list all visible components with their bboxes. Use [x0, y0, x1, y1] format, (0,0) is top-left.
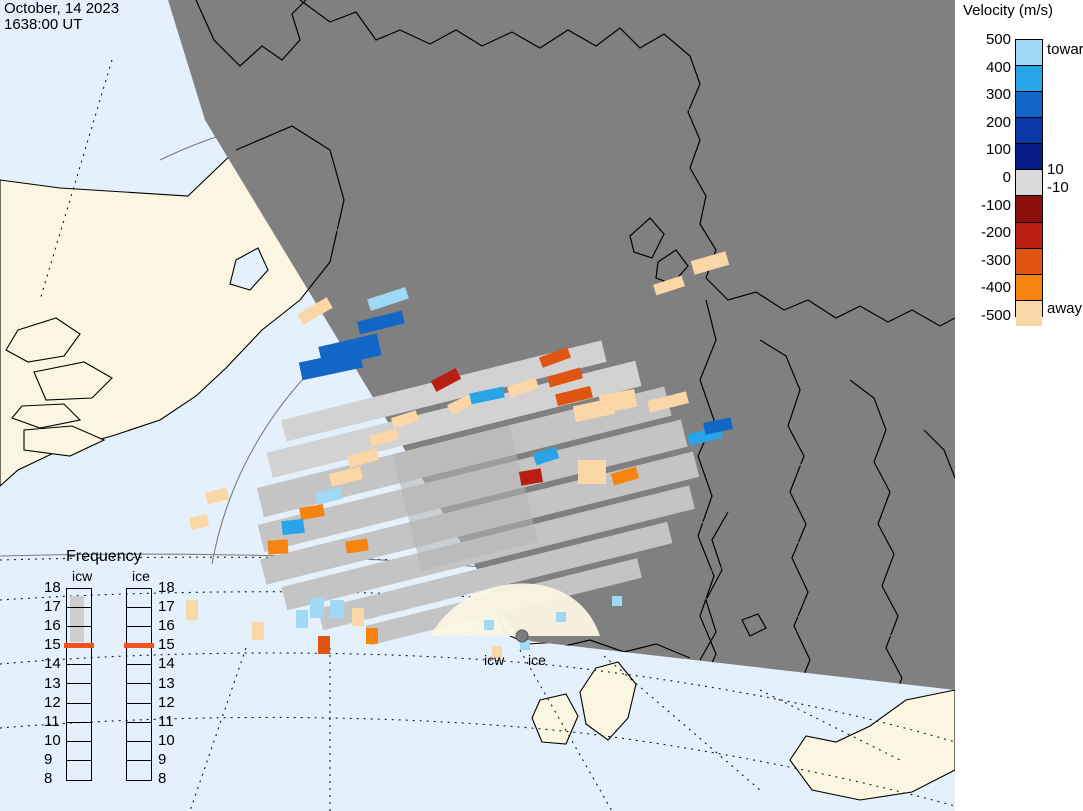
- frequency-segment: [127, 665, 151, 684]
- frequency-tick-left-18: 18: [44, 579, 61, 596]
- frequency-segment: [127, 608, 151, 627]
- colorbar-cell-zero: [1016, 169, 1042, 196]
- frequency-tick-left-9: 9: [44, 751, 52, 768]
- frequency-tick-right-12: 12: [158, 694, 175, 711]
- frequency-bar-icw[interactable]: [66, 588, 92, 781]
- frequency-legend: Frequency icw ice 18171615141312111098 1…: [58, 548, 188, 804]
- frequency-tick-right-16: 16: [158, 617, 175, 634]
- frequency-tick-right-10: 10: [158, 732, 175, 749]
- frequency-segment: [67, 589, 91, 608]
- frequency-segment: [67, 646, 91, 665]
- colorbar-toward-label: toward: [1047, 41, 1083, 58]
- colorbar-tick-0: 0: [1003, 169, 1011, 186]
- frequency-segment: [127, 646, 151, 665]
- frequency-marker-ice: [124, 643, 154, 648]
- colorbar-cell-toward-1: [1016, 66, 1042, 92]
- frequency-segment: [127, 704, 151, 723]
- colorbar-inner-tick-negative: -10: [1047, 179, 1069, 196]
- velocity-cell: [252, 622, 264, 640]
- colorbar-gradient[interactable]: [1015, 39, 1043, 317]
- frequency-tick-left-15: 15: [44, 636, 61, 653]
- frequency-segment: [67, 684, 91, 703]
- colorbar-tick-neg200: -200: [981, 224, 1011, 241]
- colorbar-cell-toward-4: [1016, 144, 1042, 169]
- frequency-segment: [67, 704, 91, 723]
- title-date: October, 14 2023: [4, 0, 119, 17]
- radar-site-marker: [516, 630, 528, 642]
- frequency-tick-right-9: 9: [158, 751, 166, 768]
- frequency-tick-right-8: 8: [158, 770, 166, 787]
- frequency-tick-right-18: 18: [158, 579, 175, 596]
- radar-map[interactable]: icw ice Frequency icw ice 18171615141312…: [0, 0, 955, 811]
- colorbar-inner-tick-positive: 10: [1047, 161, 1064, 178]
- frequency-tick-left-14: 14: [44, 655, 61, 672]
- frequency-marker-icw: [64, 643, 94, 648]
- screenshot-root: icw ice Frequency icw ice 18171615141312…: [0, 0, 1083, 811]
- frequency-segment: [67, 742, 91, 761]
- site-label-icw: icw: [484, 652, 504, 668]
- frequency-tick-left-10: 10: [44, 732, 61, 749]
- colorbar-title: Velocity (m/s): [963, 2, 1083, 19]
- velocity-cell: [281, 519, 304, 535]
- colorbar-cell-away-3: [1016, 275, 1042, 301]
- frequency-tick-right-13: 13: [158, 675, 175, 692]
- velocity-cell: [330, 600, 344, 618]
- frequency-segment: [127, 742, 151, 761]
- page-title: October, 14 20231638:00 UT: [4, 1, 119, 33]
- colorbar-tick-100: 100: [986, 141, 1011, 158]
- colorbar-cell-away-2: [1016, 249, 1042, 275]
- site-label-ice: ice: [528, 652, 546, 668]
- colorbar-cell-toward-3: [1016, 118, 1042, 144]
- frequency-bar-ice[interactable]: [126, 588, 152, 781]
- frequency-segment: [127, 723, 151, 742]
- frequency-segment: [67, 761, 91, 780]
- frequency-tick-left-11: 11: [44, 713, 60, 730]
- frequency-segment: [127, 761, 151, 780]
- frequency-legend-title: Frequency: [66, 548, 142, 566]
- title-time: 1638:00 UT: [4, 16, 82, 33]
- colorbar-panel: Velocity (m/s) 5004003002001000-100-200-…: [955, 0, 1083, 811]
- colorbar-tick-300: 300: [986, 86, 1011, 103]
- velocity-cell: [296, 610, 308, 628]
- frequency-tick-right-11: 11: [158, 713, 174, 730]
- velocity-cell: [366, 628, 378, 644]
- colorbar-tick-neg300: -300: [981, 252, 1011, 269]
- velocity-cell: [612, 596, 622, 606]
- colorbar-tick-200: 200: [986, 114, 1011, 131]
- frequency-tick-right-17: 17: [158, 598, 175, 615]
- frequency-tick-right-15: 15: [158, 636, 175, 653]
- velocity-cell: [310, 598, 324, 618]
- frequency-column-header-ice: ice: [132, 568, 150, 584]
- frequency-segment: [67, 723, 91, 742]
- colorbar-cell-toward-0: [1016, 40, 1042, 66]
- frequency-tick-right-14: 14: [158, 655, 175, 672]
- frequency-segment: [67, 608, 91, 627]
- colorbar-tick-neg400: -400: [981, 279, 1011, 296]
- velocity-cell: [484, 620, 494, 630]
- frequency-segment: [67, 665, 91, 684]
- colorbar-cell-toward-2: [1016, 92, 1042, 118]
- frequency-tick-left-16: 16: [44, 617, 61, 634]
- frequency-tick-left-17: 17: [44, 598, 61, 615]
- colorbar-tick-neg500: -500: [981, 307, 1011, 324]
- colorbar-tick-neg100: -100: [981, 197, 1011, 214]
- velocity-cell: [268, 539, 289, 554]
- velocity-cell: [352, 608, 364, 626]
- velocity-cell: [556, 612, 566, 622]
- colorbar-tick-500: 500: [986, 31, 1011, 48]
- colorbar-cell-away-4: [1016, 301, 1042, 326]
- colorbar-cell-away-1: [1016, 223, 1042, 249]
- frequency-segment: [127, 589, 151, 608]
- frequency-tick-left-13: 13: [44, 675, 61, 692]
- frequency-column-header-icw: icw: [72, 568, 92, 584]
- frequency-tick-left-12: 12: [44, 694, 61, 711]
- velocity-cell: [318, 636, 330, 654]
- colorbar-away-label: away: [1047, 300, 1082, 317]
- colorbar-tick-400: 400: [986, 59, 1011, 76]
- frequency-segment: [127, 684, 151, 703]
- velocity-cell: [578, 460, 606, 484]
- frequency-tick-left-8: 8: [44, 770, 52, 787]
- colorbar-cell-away-0: [1016, 196, 1042, 222]
